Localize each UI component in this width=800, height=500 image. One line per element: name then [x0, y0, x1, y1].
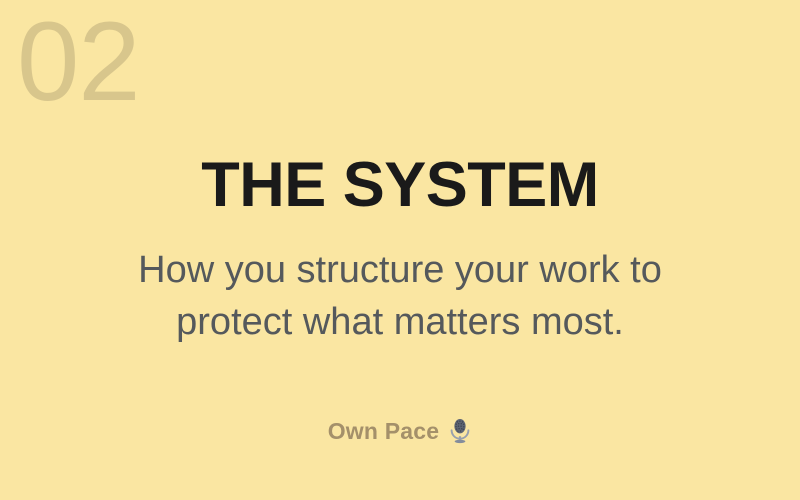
subtitle-line-1: How you structure your work to [138, 244, 662, 296]
footer-brand: Own Pace [0, 418, 800, 444]
subtitle-line-2: protect what matters most. [138, 296, 662, 348]
slide-subtitle: How you structure your work to protect w… [138, 244, 662, 348]
page-title: THE SYSTEM [201, 152, 599, 219]
presentation-slide: 02 THE SYSTEM How you structure your wor… [0, 0, 800, 500]
studio-microphone-icon [448, 418, 472, 444]
brand-name: Own Pace [328, 420, 440, 443]
